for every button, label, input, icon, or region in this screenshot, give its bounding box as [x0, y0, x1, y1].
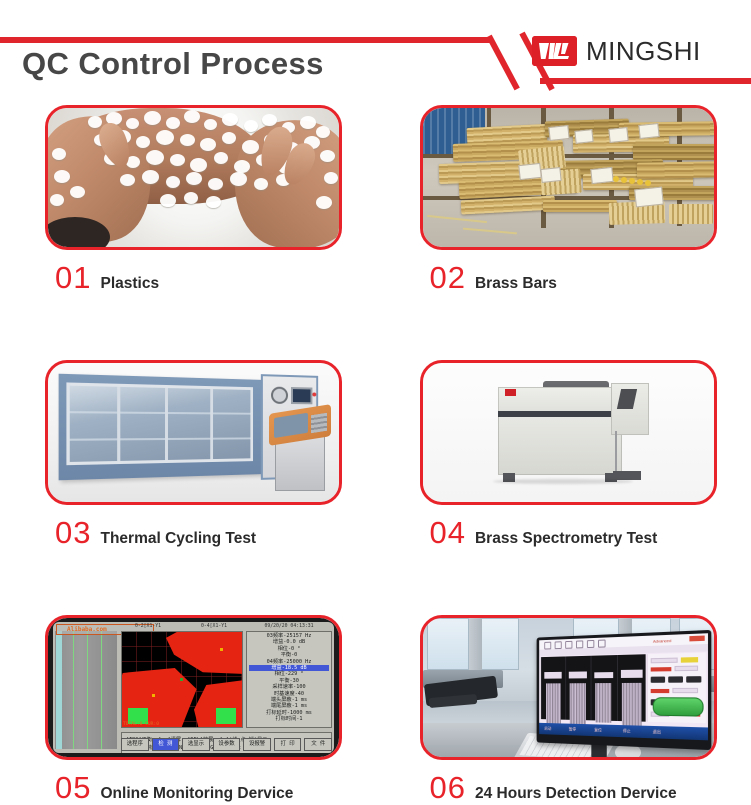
header-diagonal-stripe-1: [486, 35, 519, 91]
taskbar-item[interactable]: 启动: [544, 724, 551, 733]
monitor-screen: Advanced: [536, 630, 711, 750]
step-label: Brass Bars: [475, 273, 557, 295]
step-05-image-card: Alibaba.com 0-2[X1-Y1 0-4[X1-Y1 09/20/20…: [45, 615, 342, 760]
step-label: 24 Hours Detection Dervice: [475, 783, 677, 805]
taskbar-item[interactable]: 复位: [594, 725, 601, 734]
step-label: Thermal Cycling Test: [100, 528, 256, 550]
brass-bars-warehouse-photo: [423, 108, 714, 247]
row-spacer: [0, 550, 751, 615]
taskbar-item[interactable]: 退出: [652, 727, 660, 737]
process-row-2: 03 Thermal Cycling Test: [0, 360, 751, 550]
process-row-1: 01 Plastics: [0, 105, 751, 295]
page-header: QC Control Process MINGSHI: [0, 0, 751, 105]
process-row-3: Alibaba.com 0-2[X1-Y1 0-4[X1-Y1 09/20/20…: [0, 615, 751, 805]
crt-totals: TOTAL:0 CUR:0: [123, 722, 159, 728]
crt-button-set-alarm[interactable]: 设报警: [243, 738, 271, 751]
step-05-caption: 05 Online Monitoring Dervice: [55, 772, 377, 805]
step-06-image-card: Advanced: [420, 615, 717, 760]
page-title: QC Control Process: [22, 46, 324, 82]
qc-control-process-page: QC Control Process MINGSHI: [0, 0, 751, 771]
ultrasonic-plot: [121, 631, 243, 728]
brand-logo: MINGSHI: [532, 36, 701, 66]
mingshi-logo-icon: [532, 36, 577, 66]
step-label: Brass Spectrometry Test: [475, 528, 657, 550]
step-label: Plastics: [100, 273, 159, 295]
process-steps-grid: 01 Plastics: [0, 105, 751, 805]
plastic-pellets-in-hands-photo: [48, 108, 339, 247]
plot-right-label: 0-4[X1-Y1: [201, 624, 227, 630]
crt-button-set-params[interactable]: 设参数: [213, 738, 241, 751]
process-step-04: 04 Brass Spectrometry Test: [420, 360, 751, 550]
crt-button-print[interactable]: 打 印: [274, 738, 302, 751]
step-number: 03: [55, 517, 91, 548]
crt-ultrasonic-monitor-photo: Alibaba.com 0-2[X1-Y1 0-4[X1-Y1 09/20/20…: [48, 618, 339, 757]
process-step-05: Alibaba.com 0-2[X1-Y1 0-4[X1-Y1 09/20/20…: [45, 615, 377, 805]
step-06-caption: 06 24 Hours Detection Dervice: [430, 772, 751, 805]
step-04-image-card: [420, 360, 717, 505]
crt-timestamp: 09/20/20 04:13:31: [246, 624, 332, 630]
step-01-caption: 01 Plastics: [55, 262, 377, 295]
crt-readout-panel: 03频率-25157 Hz 增益-0.0 dB 相位-0 ° 平衡-0 04频率…: [246, 631, 332, 728]
step-02-image-card: [420, 105, 717, 250]
taskbar-item[interactable]: 停止: [622, 726, 630, 735]
process-step-03: 03 Thermal Cycling Test: [45, 360, 377, 550]
plot-left-label: 0-2[X1-Y1: [135, 624, 161, 630]
step-03-caption: 03 Thermal Cycling Test: [55, 517, 377, 550]
brass-spectrometer-photo: [423, 363, 714, 502]
step-03-image-card: [45, 360, 342, 505]
brand-name: MINGSHI: [586, 36, 701, 66]
header-accent-bar-right: [540, 78, 751, 84]
crt-button-select-display[interactable]: 选显示: [182, 738, 210, 751]
step-number: 01: [55, 262, 91, 293]
taskbar-item[interactable]: 暂停: [568, 725, 575, 734]
step-label: Online Monitoring Dervice: [100, 783, 293, 805]
crt-button-detect[interactable]: 检 测: [152, 738, 180, 751]
step-04-caption: 04 Brass Spectrometry Test: [430, 517, 751, 550]
thermal-cycling-chamber-photo: [48, 363, 339, 502]
crt-button-select-program[interactable]: 选程序: [121, 738, 149, 751]
status-pill: [652, 697, 703, 716]
readout-line: 打标时间-1: [249, 716, 329, 722]
crt-button-bar: 选程序 检 测 选显示 设参数 设报警 打 印 文 件: [121, 738, 332, 751]
step-number: 04: [430, 517, 466, 548]
step-02-caption: 02 Brass Bars: [430, 262, 751, 295]
workstation-monitor-photo: Advanced: [423, 618, 714, 757]
step-number: 02: [430, 262, 466, 293]
process-step-01: 01 Plastics: [45, 105, 377, 295]
step-01-image-card: [45, 105, 342, 250]
row-spacer: [0, 295, 751, 360]
header-accent-bar-left: [0, 37, 492, 43]
process-step-06: Advanced: [420, 615, 751, 805]
step-number: 05: [55, 772, 91, 803]
step-number: 06: [430, 772, 466, 803]
crt-button-file[interactable]: 文 件: [304, 738, 332, 751]
process-step-02: 02 Brass Bars: [420, 105, 751, 295]
